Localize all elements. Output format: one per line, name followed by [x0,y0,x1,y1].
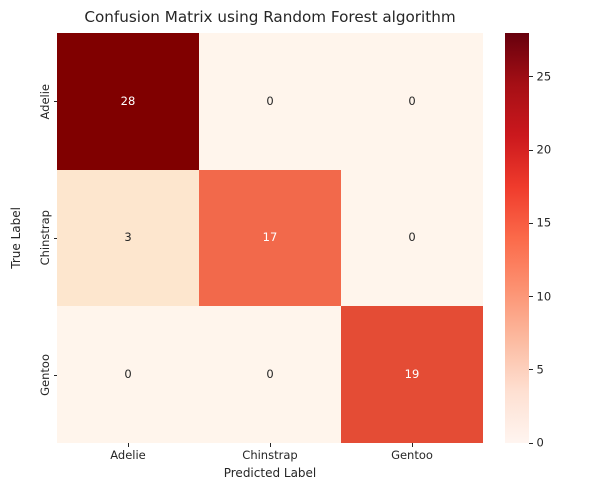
heatmap-cell-value: 0 [408,232,415,244]
heatmap-cell-value: 17 [263,232,278,244]
colorbar-tick-mark-icon [529,443,533,444]
colorbar-tick-label: 15 [537,216,552,230]
heatmap-cell: 0 [199,33,341,170]
heatmap-cell: 17 [199,170,341,307]
heatmap-cell: 19 [341,306,483,443]
x-tick-mark-icon [270,443,271,447]
heatmap-cell: 28 [57,33,199,170]
x-tick-chinstrap: Chinstrap [199,443,341,465]
y-tick-gentoo: Gentoo [0,306,57,443]
heatmap-cell: 0 [57,306,199,443]
y-tick-label: Chinstrap [38,210,52,265]
heatmap-cell: 0 [199,306,341,443]
colorbar-tick-label: 10 [537,289,552,303]
heatmap-grid: 280031700019 [57,33,483,443]
x-axis-label: Predicted Label [57,466,483,480]
heatmap-cell-value: 0 [124,369,131,381]
y-axis-tick-labels: Adelie Chinstrap Gentoo [0,33,57,443]
heatmap-cell-value: 0 [266,369,273,381]
colorbar-gradient [505,33,529,443]
colorbar-tick-mark-icon [529,150,533,151]
heatmap-cell-value: 3 [124,232,131,244]
y-tick-label: Adelie [38,84,52,120]
x-tick-adelie: Adelie [57,443,199,465]
heatmap-cell: 0 [341,170,483,307]
x-tick-label: Chinstrap [242,448,297,462]
colorbar-tick-mark-icon [529,369,533,370]
colorbar-tick-label: 20 [537,143,552,157]
colorbar-tick-mark-icon [529,223,533,224]
heatmap-cell: 0 [341,33,483,170]
x-axis-tick-labels: Adelie Chinstrap Gentoo [57,443,483,465]
colorbar-tick-label: 25 [537,69,552,83]
x-tick-label: Gentoo [391,448,433,462]
x-tick-mark-icon [412,443,413,447]
colorbar-tick-mark-icon [529,296,533,297]
page-title: Confusion Matrix using Random Forest alg… [57,8,483,26]
colorbar-tick-mark-icon [529,76,533,77]
y-tick-label: Gentoo [38,354,52,396]
colorbar-tick-label: 0 [537,436,544,450]
x-tick-gentoo: Gentoo [341,443,483,465]
heatmap-cell-value: 0 [408,96,415,108]
y-tick-chinstrap: Chinstrap [0,170,57,307]
x-tick-label: Adelie [110,448,146,462]
confusion-matrix-figure: Confusion Matrix using Random Forest alg… [0,0,600,500]
heatmap-cell-value: 0 [266,96,273,108]
colorbar-tick-label: 5 [537,362,544,376]
colorbar-tick-labels: 0510152025 [529,33,589,443]
heatmap-cell: 3 [57,170,199,307]
heatmap-plot-area: 280031700019 [57,33,483,443]
colorbar [505,33,529,443]
x-tick-mark-icon [128,443,129,447]
heatmap-cell-value: 28 [121,96,136,108]
heatmap-cell-value: 19 [405,369,420,381]
y-tick-adelie: Adelie [0,33,57,170]
